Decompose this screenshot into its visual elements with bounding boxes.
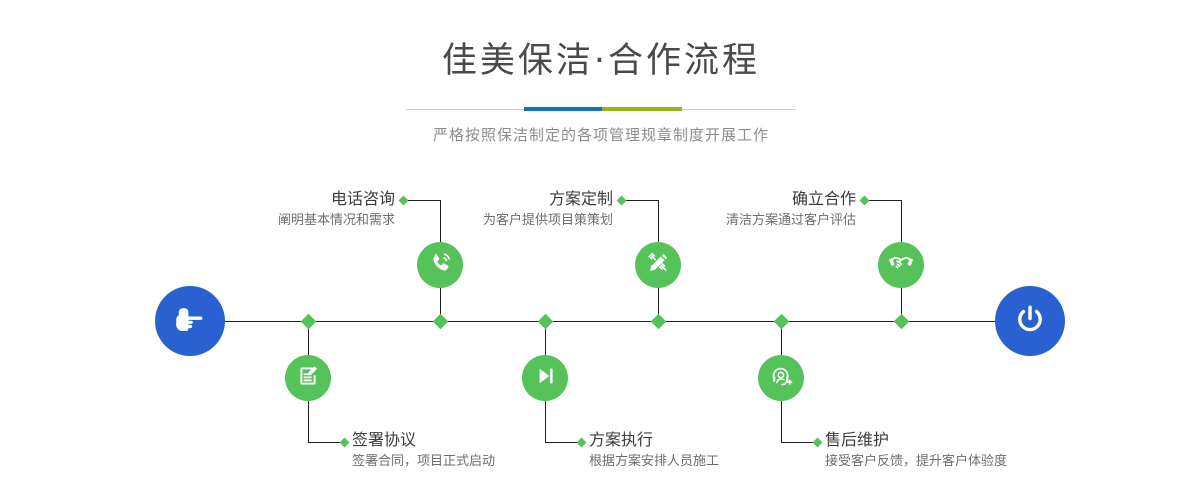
- step-desc: 接受客户反馈，提升客户体验度: [825, 450, 1085, 471]
- headset-support-icon: [767, 362, 795, 395]
- timeline-start-node: [155, 286, 225, 356]
- play-skip-icon: [531, 362, 559, 395]
- step-icon-plan-customization: [635, 242, 681, 288]
- step-desc: 签署合同，项目正式启动: [352, 450, 602, 471]
- pencil-ruler-icon: [644, 249, 672, 282]
- timeline-flow: 电话咨询 阐明基本情况和需求 签署协议 签署合同，项目正式启动: [0, 0, 1202, 502]
- step-title: 方案定制: [367, 189, 613, 209]
- document-edit-icon: [294, 362, 322, 395]
- step-icon-plan-execution: [522, 355, 568, 401]
- step-label-phone-consultation: 电话咨询 阐明基本情况和需求: [149, 189, 395, 230]
- step-connector-dot-establish-cooperation: [860, 196, 870, 206]
- step-desc: 为客户提供项目策策划: [367, 209, 613, 230]
- step-icon-sign-agreement: [285, 355, 331, 401]
- timeline-end-node: [995, 286, 1065, 356]
- step-diamond-plan-execution: [538, 314, 554, 330]
- step-stem-lower-plan-execution: [545, 401, 546, 442]
- step-title: 方案执行: [589, 430, 839, 450]
- step-icon-after-sales-maintenance: [758, 355, 804, 401]
- step-label-after-sales-maintenance: 售后维护 接受客户反馈，提升客户体验度: [825, 430, 1085, 471]
- step-icon-establish-cooperation: [878, 242, 924, 288]
- step-title: 电话咨询: [149, 189, 395, 209]
- step-title: 售后维护: [825, 430, 1085, 450]
- step-label-plan-execution: 方案执行 根据方案安排人员施工: [589, 430, 839, 471]
- handshake-icon: [887, 249, 915, 282]
- step-label-establish-cooperation: 确立合作 清洁方案通过客户评估: [610, 189, 856, 230]
- step-label-sign-agreement: 签署协议 签署合同，项目正式启动: [352, 430, 602, 471]
- step-desc: 阐明基本情况和需求: [149, 209, 395, 230]
- step-diamond-establish-cooperation: [894, 314, 910, 330]
- step-desc: 根据方案安排人员施工: [589, 450, 839, 471]
- step-label-plan-customization: 方案定制 为客户提供项目策策划: [367, 189, 613, 230]
- cooperation-process-diagram: 佳美保洁·合作流程 严格按照保洁制定的各项管理规章制度开展工作: [0, 0, 1202, 502]
- step-stem-lower-after-sales-maintenance: [781, 401, 782, 442]
- step-connector-dot-sign-agreement: [340, 438, 350, 448]
- step-stem-establish-cooperation: [901, 200, 902, 242]
- pointing-hand-icon: [170, 299, 210, 344]
- step-diamond-plan-customization: [651, 314, 667, 330]
- step-icon-phone-consultation: [417, 242, 463, 288]
- step-desc: 清洁方案通过客户评估: [610, 209, 856, 230]
- power-button-icon: [1010, 299, 1050, 344]
- step-title: 签署协议: [352, 430, 602, 450]
- step-diamond-after-sales-maintenance: [774, 314, 790, 330]
- step-diamond-phone-consultation: [433, 314, 449, 330]
- step-connector-h-establish-cooperation: [865, 200, 901, 201]
- step-stem-lower-sign-agreement: [308, 401, 309, 442]
- step-title: 确立合作: [610, 189, 856, 209]
- phone-call-icon: [426, 249, 454, 282]
- step-diamond-sign-agreement: [301, 314, 317, 330]
